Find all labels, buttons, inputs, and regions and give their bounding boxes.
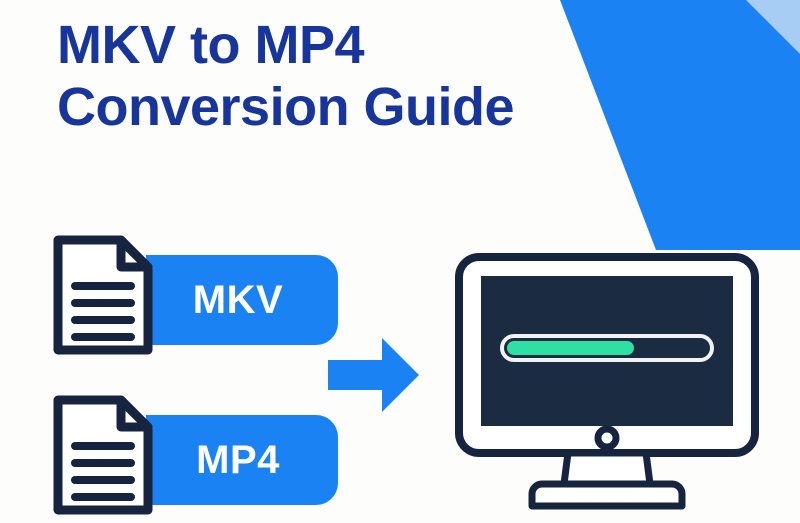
page-title: MKV to MP4 Conversion Guide — [57, 14, 617, 138]
monitor-stand-neck — [564, 453, 650, 484]
power-indicator-dot — [598, 429, 616, 447]
file-badge-label: MP4 — [146, 440, 330, 480]
file-badge-mkv: MKV — [146, 255, 338, 345]
poster-canvas: MKV to MP4 Conversion Guide MKV MP4 — [0, 0, 800, 523]
file-badge-mp4: MP4 — [146, 415, 338, 505]
progress-fill — [507, 341, 634, 355]
file-item-mkv: MKV — [48, 230, 298, 360]
document-icon — [48, 230, 166, 360]
arrow-right-icon — [320, 330, 425, 420]
title-line-1: MKV to MP4 — [57, 14, 617, 76]
file-badge-label: MKV — [146, 280, 330, 320]
monitor-icon — [450, 248, 765, 516]
monitor-stand-base — [532, 484, 682, 506]
file-item-mp4: MP4 — [48, 390, 298, 520]
document-icon — [48, 390, 166, 520]
title-line-2: Conversion Guide — [57, 76, 617, 138]
corner-triangle-light — [742, 0, 800, 58]
